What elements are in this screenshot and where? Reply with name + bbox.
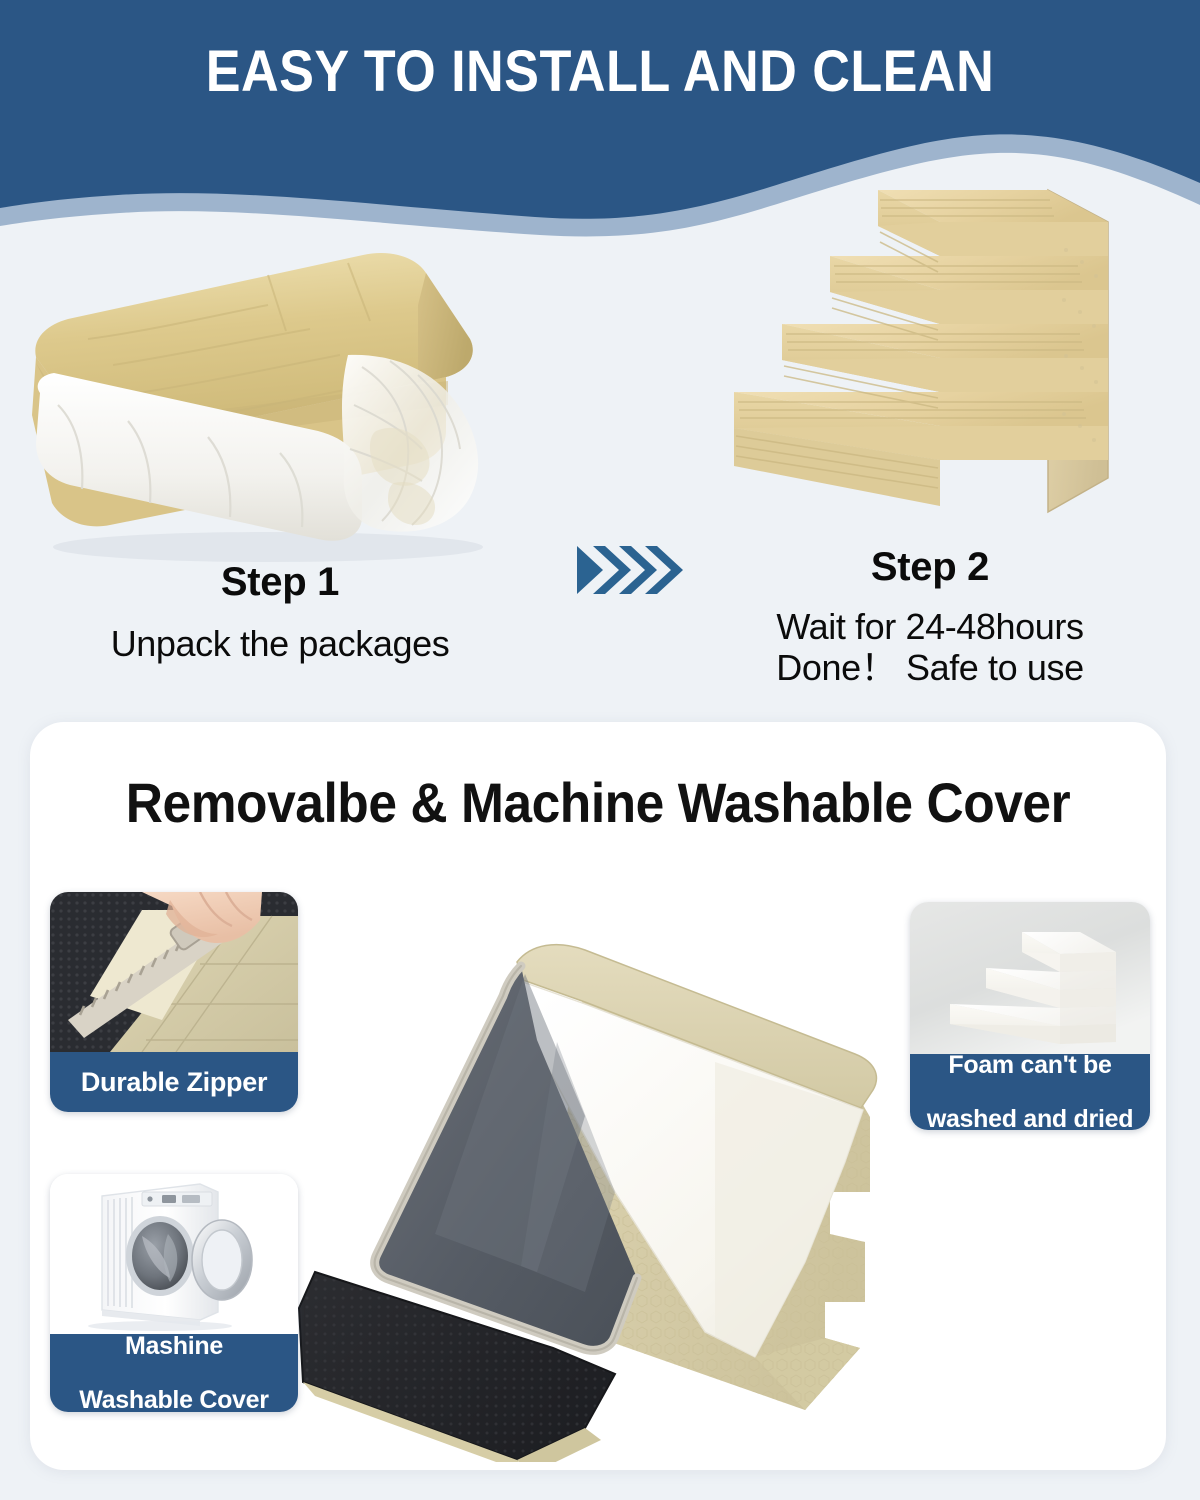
- compressed-package-photo: [18, 235, 538, 575]
- thumbnail-durable-zipper[interactable]: Durable Zipper: [50, 892, 298, 1112]
- caption-bar: Durable Zipper: [50, 1052, 298, 1112]
- thumbnail-foam-no-wash[interactable]: Foam can't be washed and dried: [910, 902, 1150, 1130]
- front-load-washing-machine-photo: [50, 1174, 298, 1334]
- white-foam-stairs-photo: [910, 902, 1150, 1054]
- arrow-chevrons: [575, 540, 685, 600]
- thumbnail-caption-washable-line2: Washable Cover: [50, 1387, 298, 1413]
- pet-stairs-with-peeled-cover-photo: [285, 862, 925, 1462]
- step-1-title: Step 1: [40, 560, 520, 605]
- step-2-label: Step 2 Wait for 24-48hours Done！ Safe to…: [700, 545, 1160, 688]
- thumbnail-caption-washable-line1: Mashine: [50, 1333, 298, 1360]
- caption-bar: Mashine Washable Cover: [50, 1334, 298, 1412]
- hero-product-image: [285, 862, 925, 1462]
- thumbnail-caption-foam-line1: Foam can't be: [910, 1052, 1150, 1079]
- thumbnail-caption-zipper: Durable Zipper: [50, 1067, 298, 1098]
- page-title: EASY TO INSTALL AND CLEAN: [60, 38, 1140, 105]
- infographic-page: EASY TO INSTALL AND CLEAN: [0, 0, 1200, 1500]
- thumbnail-machine-washable[interactable]: Mashine Washable Cover: [50, 1174, 298, 1412]
- step-2-title: Step 2: [700, 545, 1160, 590]
- step-1-caption: Unpack the packages: [40, 623, 520, 664]
- steps-section: Step 1 Unpack the packages Step 2 Wait f…: [0, 200, 1200, 720]
- thumbnail-caption-foam-line2: washed and dried: [910, 1106, 1150, 1131]
- four-step-pet-stairs-photo: [718, 160, 1138, 530]
- step-2-caption-line2: Done！ Safe to use: [700, 647, 1160, 688]
- step-1-image: [18, 235, 538, 575]
- step-1-label: Step 1 Unpack the packages: [40, 560, 520, 664]
- triple-chevron-right-icon: [575, 540, 685, 600]
- hand-pulling-zipper-photo: [50, 892, 298, 1052]
- washable-cover-card: Removalbe & Machine Washable Cover: [30, 722, 1166, 1470]
- caption-bar: Foam can't be washed and dried: [910, 1054, 1150, 1130]
- step-2-image: [718, 160, 1138, 530]
- cover-section-title: Removalbe & Machine Washable Cover: [75, 770, 1120, 835]
- step-2-caption-line1: Wait for 24-48hours: [700, 606, 1160, 647]
